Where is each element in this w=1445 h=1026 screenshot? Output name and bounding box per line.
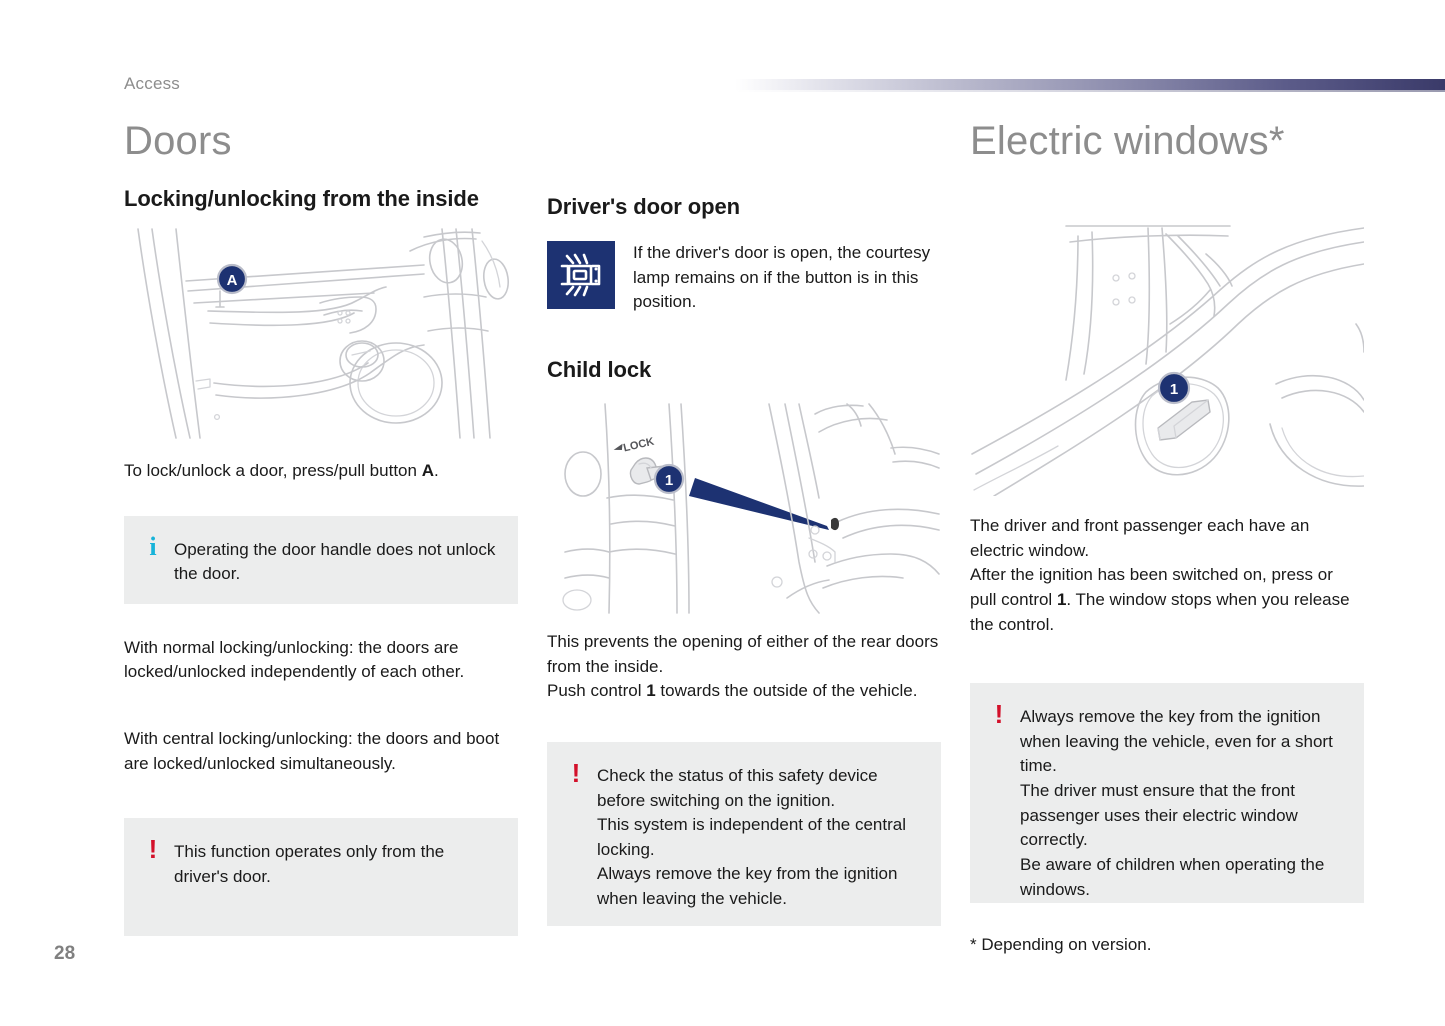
header-rule: [735, 79, 1445, 90]
paragraph-child-lock-1: This prevents the opening of either of t…: [547, 630, 941, 679]
page-title-doors: Doors: [124, 120, 518, 162]
warning-note-line-1: Check the status of this safety device b…: [597, 764, 923, 813]
footnote-depending-on-version: * Depending on version.: [970, 933, 1364, 958]
child-lock-illustration: LOCK: [547, 402, 941, 614]
courtesy-lamp-icon: [547, 241, 615, 309]
warning-note-text: This function operates only from the dri…: [174, 840, 500, 889]
warning-note-child-lock: ! Check the status of this safety device…: [547, 742, 941, 926]
warning-note-line-1: Always remove the key from the ignition …: [1020, 705, 1346, 779]
page-title-electric-windows: Electric windows*: [970, 120, 1364, 162]
info-note-door-handle: i Operating the door handle does not unl…: [124, 516, 518, 604]
warning-icon: !: [142, 836, 164, 862]
column-right: Electric windows*: [970, 120, 1364, 958]
paragraph-child-lock-2-bold: 1: [646, 681, 655, 700]
warning-note-line-2: The driver must ensure that the front pa…: [1020, 779, 1346, 853]
warning-note-drivers-door: ! This function operates only from the d…: [124, 818, 518, 936]
lock-label: LOCK: [622, 436, 655, 455]
subhead-locking-unlocking: Locking/unlocking from the inside: [124, 184, 518, 213]
badge-1-label-window: 1: [1170, 381, 1178, 398]
info-icon: i: [142, 534, 164, 560]
badge-a-label: A: [227, 272, 238, 289]
paragraph-child-lock-2-part-1: Push control: [547, 681, 646, 700]
paragraph-child-lock-2: Push control 1 towards the outside of th…: [547, 679, 941, 704]
section-label-text: Access: [124, 74, 180, 93]
column-middle: Driver's door open If the driver's door …: [547, 120, 941, 926]
column-left: Doors Locking/unlocking from the inside: [124, 120, 518, 936]
warning-icon: !: [988, 701, 1010, 727]
caption-bold-a: A: [422, 461, 434, 480]
paragraph-normal-locking: With normal locking/unlocking: the doors…: [124, 636, 518, 685]
warning-note-line-3: Always remove the key from the ignition …: [597, 862, 923, 911]
courtesy-lamp-text: If the driver's door is open, the courte…: [633, 241, 941, 315]
door-interior-panel-illustration: A: [124, 227, 518, 439]
courtesy-lamp-row: If the driver's door is open, the courte…: [547, 241, 941, 315]
caption-part-2: .: [434, 461, 439, 480]
warning-note-line-2: This system is independent of the centra…: [597, 813, 923, 862]
badge-1-label-childlock: 1: [665, 472, 673, 489]
paragraph-child-lock-2-part-2: towards the outside of the vehicle.: [656, 681, 918, 700]
warning-icon: !: [565, 760, 587, 786]
caption-lock-unlock: To lock/unlock a door, press/pull button…: [124, 459, 518, 484]
caption-part-1: To lock/unlock a door, press/pull button: [124, 461, 422, 480]
info-note-text: Operating the door handle does not unloc…: [174, 538, 500, 587]
subhead-drivers-door-open: Driver's door open: [547, 192, 941, 221]
paragraph-electric-window-1: The driver and front passenger each have…: [970, 514, 1364, 563]
paragraph-central-locking: With central locking/unlocking: the door…: [124, 727, 518, 776]
page-number: 28: [54, 943, 75, 965]
section-label: Access: [124, 74, 180, 94]
electric-window-control-illustration: 1: [970, 224, 1364, 496]
paragraph-electric-window-2-bold: 1: [1057, 590, 1066, 609]
paragraph-electric-window-2: After the ignition has been switched on,…: [970, 563, 1364, 637]
subhead-child-lock: Child lock: [547, 355, 941, 384]
warning-note-electric-windows: ! Always remove the key from the ignitio…: [970, 683, 1364, 903]
warning-note-line-3: Be aware of children when operating the …: [1020, 853, 1346, 902]
